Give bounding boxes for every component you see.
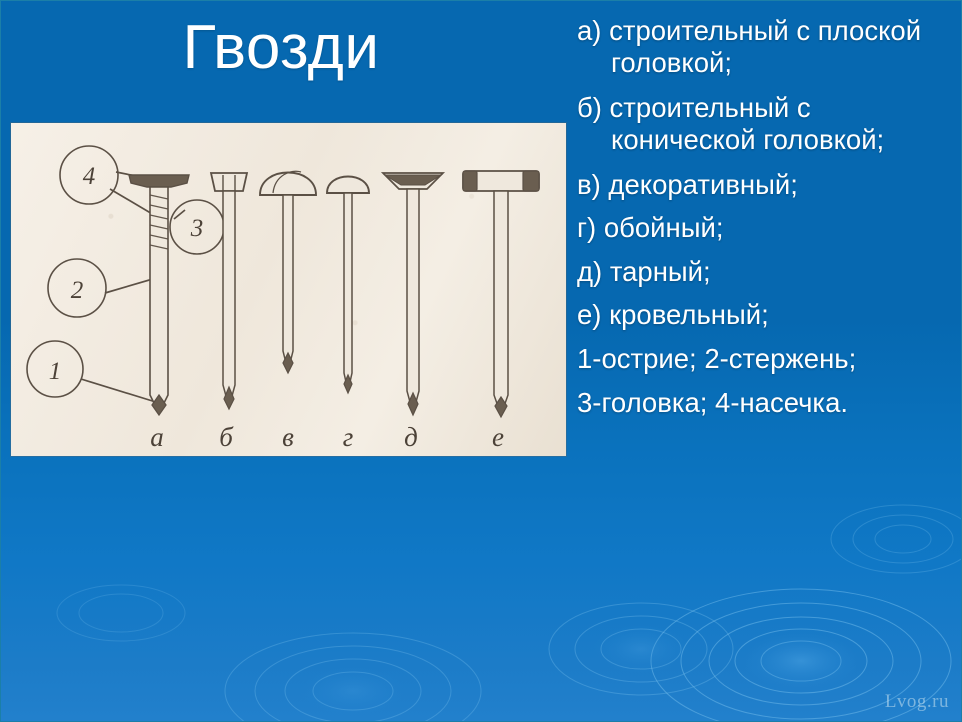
callout-label-1: 1 — [49, 358, 62, 385]
callout-label-3: 3 — [190, 215, 204, 242]
nails-diagram: 4 3 2 1 — [11, 123, 566, 456]
list-item: в) декоративный; — [577, 169, 955, 201]
list-item: е) кровельный; — [577, 299, 955, 331]
nail-label-g: г — [343, 422, 354, 452]
list-item: а) строительный с плоской головкой; — [577, 15, 955, 80]
list-item: 3-головка; 4-насечка. — [577, 387, 955, 419]
list-item: д) тарный; — [577, 256, 955, 288]
list-item: б) строительный с конической головкой; — [577, 92, 955, 157]
watermark: Lvog.ru — [885, 691, 949, 713]
nail-label-d: д — [404, 422, 418, 452]
slide: Гвозди 4 3 2 1 — [0, 0, 962, 722]
callout-label-2: 2 — [71, 277, 84, 304]
nail-label-b: б — [219, 422, 234, 452]
nail-types-list: а) строительный с плоской головкой; б) с… — [577, 15, 955, 431]
nails-figure-image: 4 3 2 1 — [11, 123, 566, 456]
nail-a — [129, 175, 189, 415]
leader-line-1 — [81, 379, 159, 403]
list-item: г) обойный; — [577, 212, 955, 244]
nail-v — [260, 171, 316, 373]
callout-label-4: 4 — [83, 163, 96, 190]
nail-e — [463, 171, 539, 417]
nail-g — [327, 177, 369, 394]
nail-label-v: в — [282, 422, 294, 452]
page-title: Гвозди — [1, 15, 561, 80]
leader-line-4b — [110, 189, 154, 215]
nail-label-a: а — [150, 422, 164, 452]
nail-label-e: е — [492, 422, 504, 452]
list-item: 1-острие; 2-стержень; — [577, 343, 955, 375]
nail-d — [383, 173, 443, 415]
